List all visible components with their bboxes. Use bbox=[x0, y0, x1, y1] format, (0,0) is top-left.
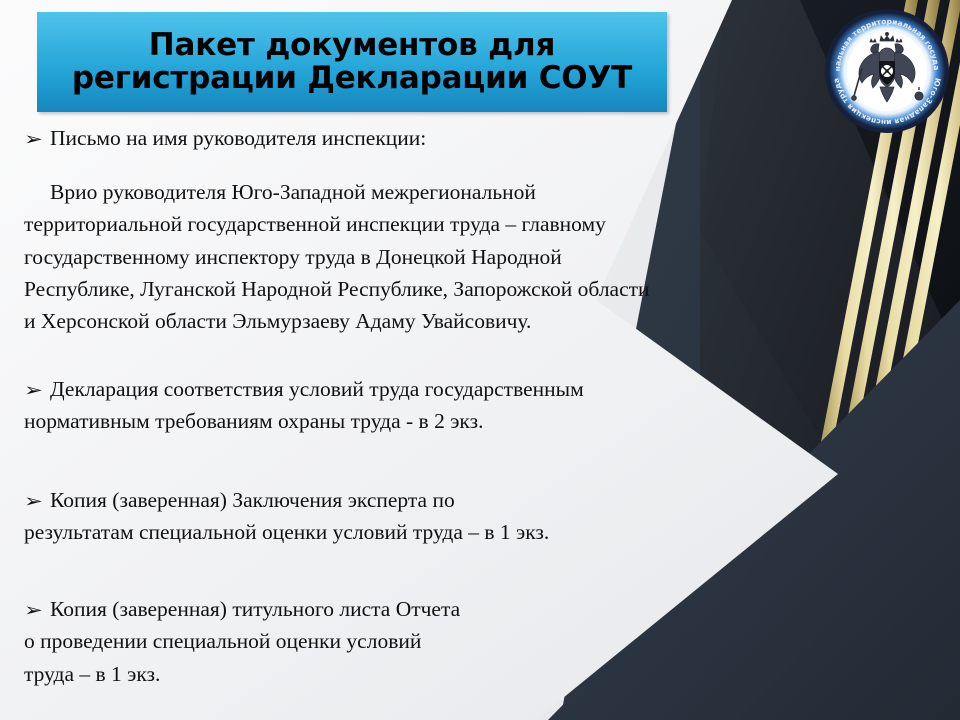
bullet-3-text-1: Копия (заверенная) Заключения эксперта п… bbox=[50, 488, 455, 512]
title-banner: Пакет документов для регистрации Деклара… bbox=[37, 12, 667, 112]
address-line: и Херсонской области Эльмурзаеву Адаму У… bbox=[24, 305, 824, 337]
slide-content: ➢Письмо на имя руководителя инспекции: В… bbox=[0, 126, 860, 720]
bullet-arrow-icon: ➢ bbox=[24, 129, 57, 150]
address-line: государственному инспектору труда в Доне… bbox=[24, 241, 824, 273]
bullet-3-line-1: ➢Копия (заверенная) Заключения эксперта … bbox=[24, 484, 549, 516]
slide-root: Пакет документов для регистрации Деклара… bbox=[0, 0, 960, 720]
bullet-2-text-1: Декларация соответствия условий труда го… bbox=[50, 377, 584, 401]
bullet-item-3: ➢Копия (заверенная) Заключения эксперта … bbox=[24, 484, 549, 549]
bullet-4-line-3: труда – в 1 экз. bbox=[24, 658, 460, 690]
bullet-arrow-icon: ➢ bbox=[24, 377, 57, 404]
bullet-item-2: ➢Декларация соответствия условий труда г… bbox=[24, 373, 584, 438]
bullet-3-line-2: результатам специальной оценки условий т… bbox=[24, 516, 549, 548]
address-line: Республике, Луганской Народной Республик… bbox=[24, 273, 824, 305]
bullet-arrow-icon: ➢ bbox=[24, 597, 57, 624]
address-paragraph: Врио руководителя Юго-Западной межрегион… bbox=[24, 176, 824, 337]
bullet-4-text-1: Копия (заверенная) титульного листа Отче… bbox=[50, 597, 460, 621]
address-line: территориальной государственной инспекци… bbox=[24, 208, 824, 240]
bullet-2-line-1: ➢Декларация соответствия условий труда г… bbox=[24, 373, 584, 405]
bullet-arrow-icon: ➢ bbox=[24, 488, 57, 515]
bullet-4-line-2: о проведении специальной оценки условий bbox=[24, 625, 460, 657]
bullet-item-4: ➢Копия (заверенная) титульного листа Отч… bbox=[24, 593, 460, 690]
bullet-4-line-1: ➢Копия (заверенная) титульного листа Отч… bbox=[24, 593, 460, 625]
bullet-item-1: ➢Письмо на имя руководителя инспекции: bbox=[24, 126, 426, 151]
bullet-2-line-2: нормативным требованиям охраны труда - в… bbox=[24, 405, 584, 437]
page-title: Пакет документов для регистрации Деклара… bbox=[64, 29, 640, 96]
address-line: Врио руководителя Юго-Западной межрегион… bbox=[24, 176, 824, 208]
bullet-1-heading-text: Письмо на имя руководителя инспекции: bbox=[50, 126, 426, 150]
bullet-1-heading-line: ➢Письмо на имя руководителя инспекции: bbox=[24, 126, 426, 151]
inspection-seal-emblem: межрегиональная территориальная государс… bbox=[824, 8, 950, 134]
